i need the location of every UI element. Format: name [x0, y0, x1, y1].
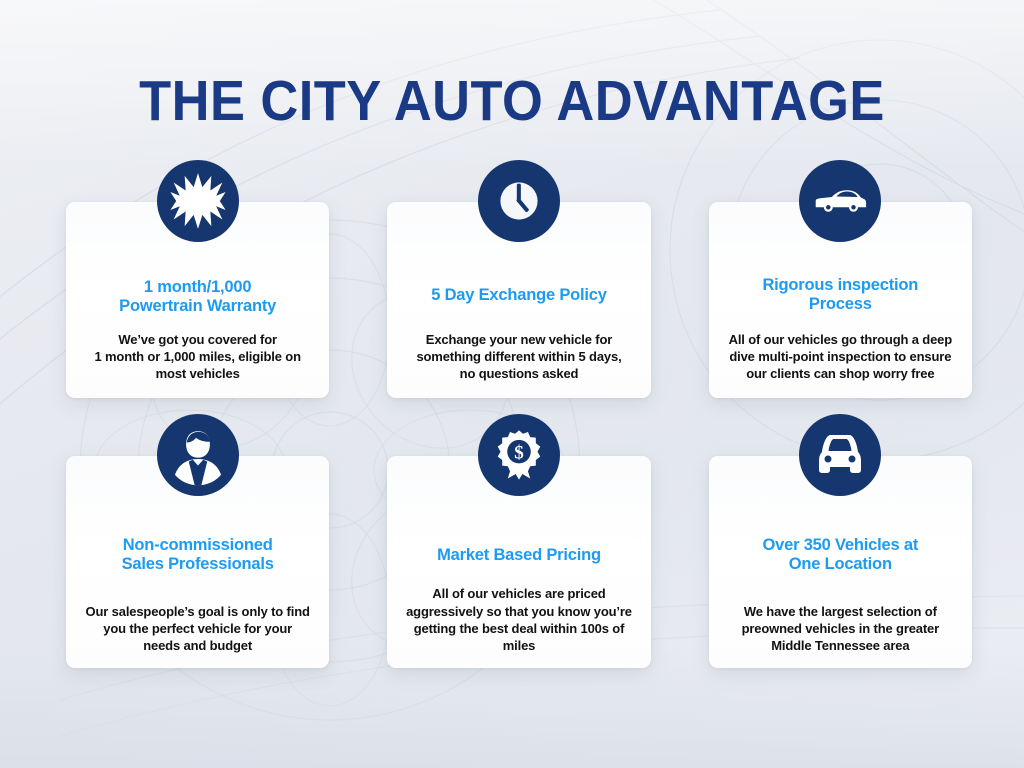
- car-side-icon: [799, 160, 881, 242]
- card-body-text: We have the largest selection of preowne…: [721, 603, 960, 654]
- benefit-card-market-based-pricing[interactable]: $ Market Based Pricing All of our vehicl…: [387, 456, 650, 668]
- card-heading: 5 Day Exchange Policy: [431, 286, 607, 305]
- benefit-card-powertrain-warranty[interactable]: 1 month/1,000 Powertrain Warranty We’ve …: [66, 202, 329, 398]
- car-front-icon: [799, 414, 881, 496]
- starburst-icon: [157, 160, 239, 242]
- svg-text:$: $: [514, 442, 524, 463]
- card-row-top: 1 month/1,000 Powertrain Warranty We’ve …: [66, 202, 972, 398]
- card-row-bottom: Non-commissioned Sales Professionals Our…: [66, 456, 972, 668]
- dollar-badge-icon: $: [478, 414, 560, 496]
- salesperson-icon: [157, 414, 239, 496]
- benefit-card-non-commissioned-sales[interactable]: Non-commissioned Sales Professionals Our…: [66, 456, 329, 668]
- card-body-text: All of our vehicles go through a deep di…: [721, 331, 960, 382]
- card-heading: Non-commissioned Sales Professionals: [122, 536, 274, 575]
- benefit-card-inspection-process[interactable]: Rigorous inspection Process All of our v…: [709, 202, 972, 398]
- benefit-card-inventory-size[interactable]: Over 350 Vehicles at One Location We hav…: [709, 456, 972, 668]
- clock-icon: [478, 160, 560, 242]
- card-body-text: All of our vehicles are priced aggressiv…: [399, 585, 638, 654]
- advantage-infographic: THE CITY AUTO ADVANTAGE 1 month/1,000 Po…: [0, 0, 1024, 768]
- card-heading: Over 350 Vehicles at One Location: [763, 536, 919, 575]
- benefit-card-grid: 1 month/1,000 Powertrain Warranty We’ve …: [66, 202, 972, 668]
- page-title: THE CITY AUTO ADVANTAGE: [41, 68, 983, 134]
- card-heading: 1 month/1,000 Powertrain Warranty: [119, 278, 276, 317]
- card-body-text: We’ve got you covered for 1 month or 1,0…: [78, 331, 317, 382]
- card-heading: Market Based Pricing: [437, 546, 601, 565]
- benefit-card-exchange-policy[interactable]: 5 Day Exchange Policy Exchange your new …: [387, 202, 650, 398]
- card-heading: Rigorous inspection Process: [762, 276, 918, 315]
- card-body-text: Exchange your new vehicle for something …: [399, 331, 638, 382]
- card-body-text: Our salespeople’s goal is only to find y…: [78, 603, 317, 654]
